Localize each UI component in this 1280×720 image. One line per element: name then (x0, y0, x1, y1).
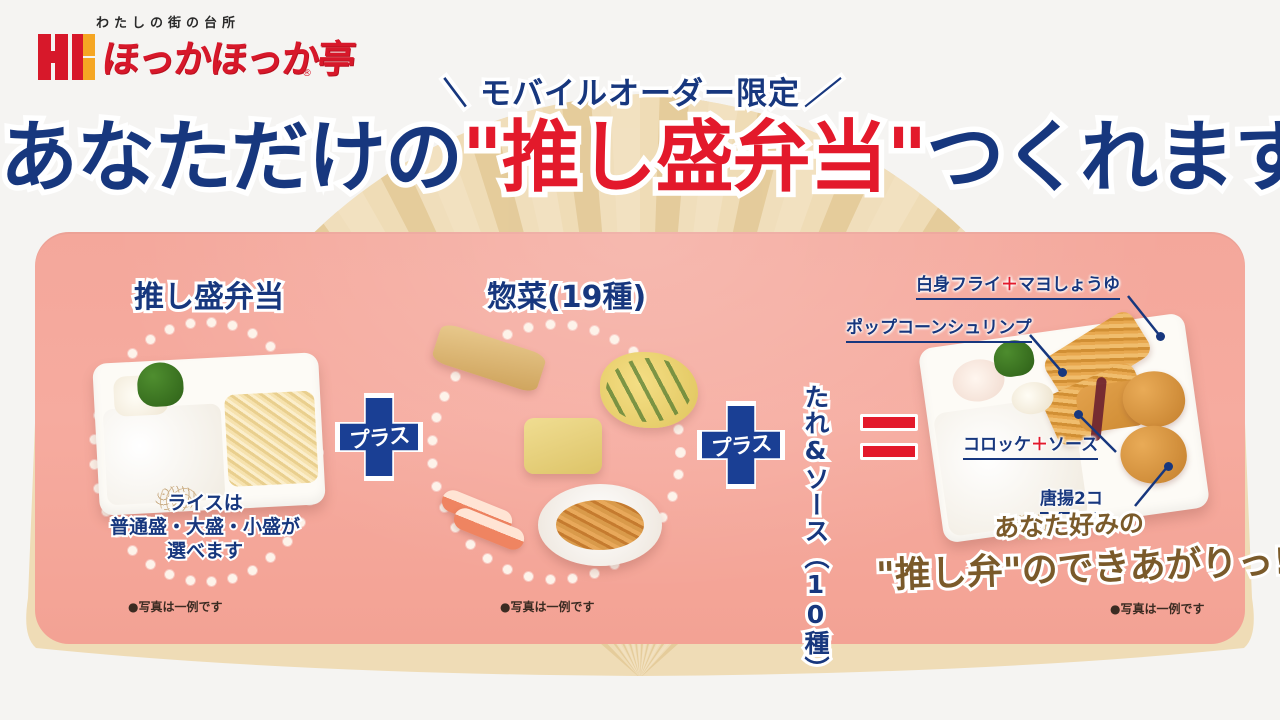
callout-text-before: 白身フライ (916, 275, 1001, 295)
callout-popcorn-shrimp: ポップコーンシュリンプ (846, 313, 1032, 343)
rice-note-line-2: 普通盛・大盛・小盛が (86, 516, 324, 540)
plus-badge-1: プラス (340, 398, 418, 476)
photo-disclaimer-result: ●写真は一例です (1110, 600, 1204, 617)
callout-text-before: ポップコーンシュリンプ (846, 318, 1032, 338)
advertisement-banner: わたしの街の台所 ほっかほっか亭 ® ＼モバイルオーダー限定／ あなただけの"推… (0, 0, 1280, 720)
equals-icon (860, 414, 918, 470)
plus-badge-2: プラス (702, 406, 780, 484)
photo-disclaimer-base: ●写真は一例です (128, 598, 222, 615)
plus-sign-icon: ＋ (1001, 275, 1018, 295)
spaghetti-portion (224, 390, 319, 487)
plus-badge-2-label: プラス (698, 402, 784, 488)
rice-portion (103, 403, 226, 505)
karaage-piece-2 (1117, 421, 1190, 488)
rice-note-line-1: ライスは (86, 492, 324, 516)
callout-text-after: マヨしょうゆ (1018, 275, 1120, 295)
photo-disclaimer-side: ●写真は一例です (500, 598, 594, 615)
callout-dot-popcorn (1058, 368, 1067, 377)
callout-white-fish-fry: 白身フライ＋マヨしょうゆ (916, 270, 1120, 300)
callout-dot-karaage (1164, 462, 1173, 471)
callout-dot-korokke (1074, 410, 1083, 419)
callout-croquette-sauce: コロッケ＋ソース (963, 430, 1098, 460)
plus-sign-icon: ＋ (1031, 435, 1048, 455)
rice-size-note: ライスは 普通盛・大盛・小盛が 選べます (86, 492, 324, 564)
rice-note-line-3: 選べます (86, 540, 324, 564)
callout-text-after: ソース (1048, 435, 1098, 455)
plus-badge-1-label: プラス (336, 394, 422, 480)
kinpira-gobo-photo (538, 484, 662, 566)
kamaboko-photo (440, 496, 528, 552)
closing-message: あなた好みの "推し弁"のできあがりっ! (876, 506, 1262, 592)
broccoli (136, 361, 184, 407)
callout-dot-shiromi (1156, 332, 1165, 341)
tamagoyaki-photo (524, 418, 602, 474)
callout-text-before: コロッケ (963, 435, 1031, 455)
broccoli (992, 338, 1037, 379)
